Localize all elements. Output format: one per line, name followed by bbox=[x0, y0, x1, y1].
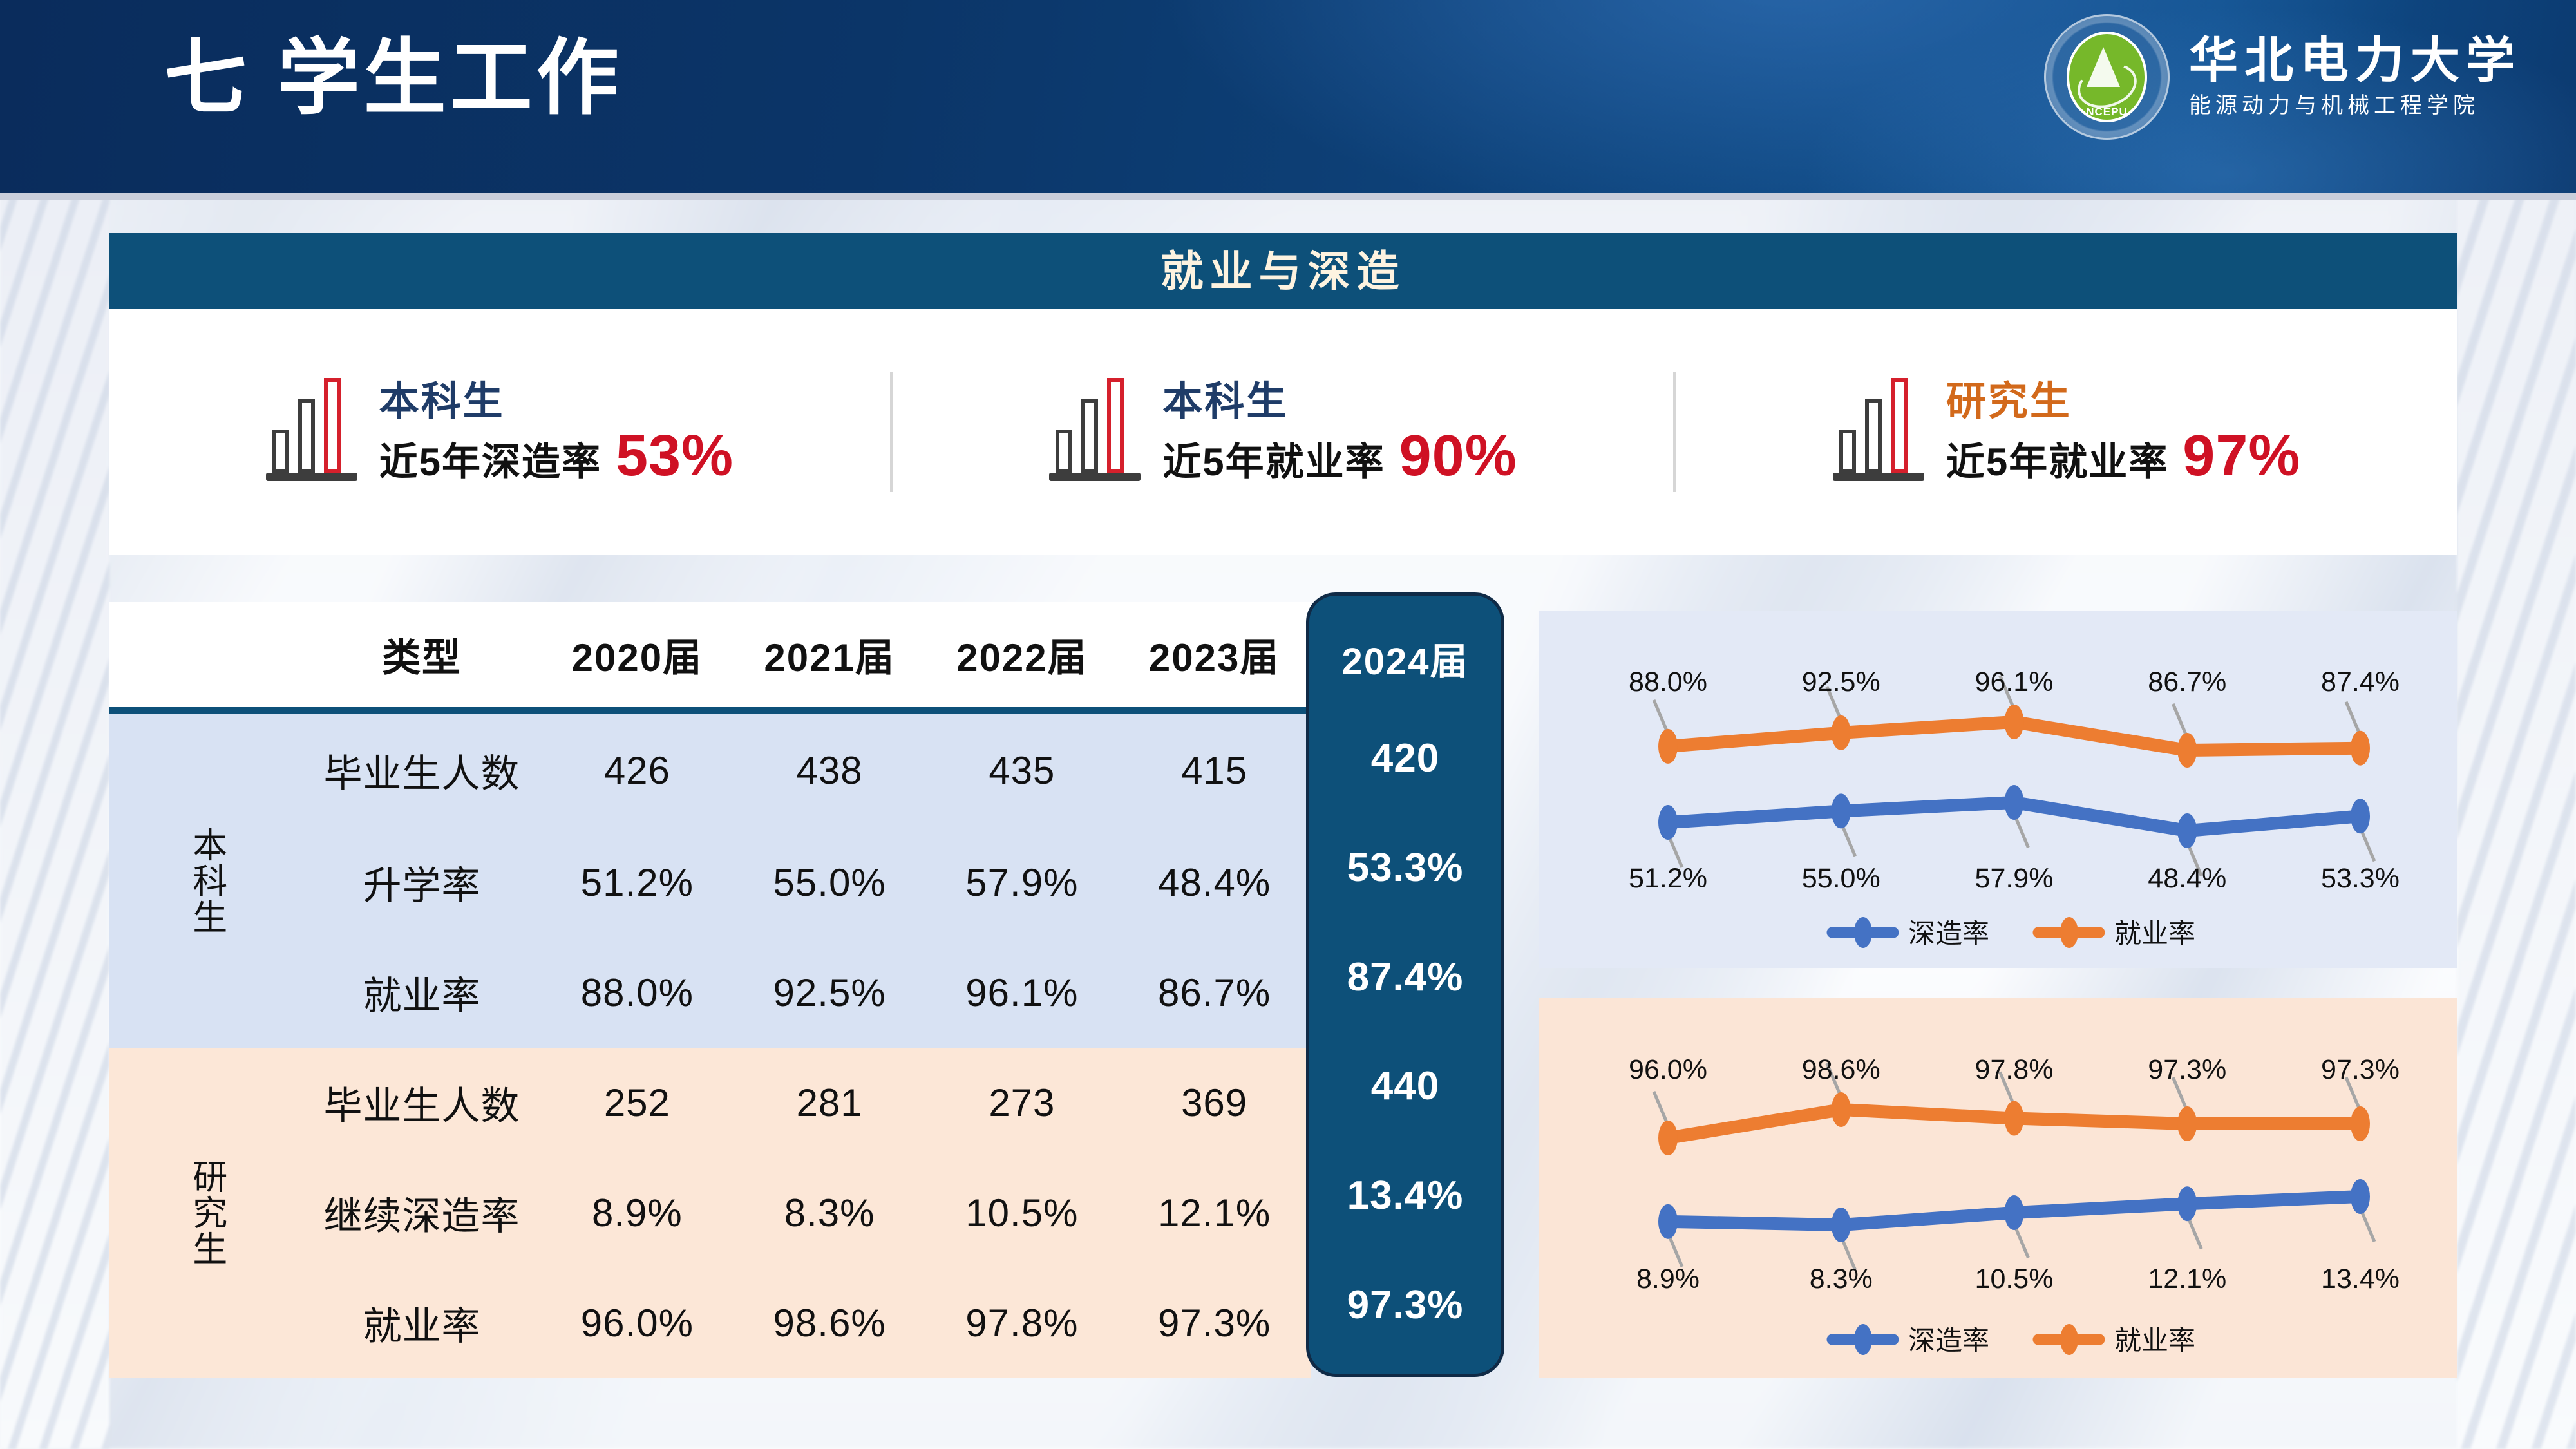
svg-text:48.4%: 48.4% bbox=[2148, 863, 2226, 894]
background-left-strip bbox=[0, 193, 109, 1449]
graduate-line-chart: 96.0%8.9%98.6%8.3%97.8%10.5%97.3%12.1%97… bbox=[1539, 998, 2457, 1378]
table-row: 研究生 毕业生人数 252 281 273 369 bbox=[109, 1048, 1311, 1158]
row-metric-label: 毕业生人数 bbox=[303, 710, 541, 828]
stat-metric-label: 近5年就业率 bbox=[1162, 441, 1385, 484]
highlight-column-2024: 2024届 420 53.3% 87.4% 440 13.4% 97.3% bbox=[1306, 592, 1504, 1377]
svg-text:86.7%: 86.7% bbox=[2148, 667, 2226, 697]
highlight-value: 87.4% bbox=[1309, 922, 1501, 1032]
cell-value: 51.2% bbox=[541, 828, 734, 938]
stat-text-block: 本科生 近5年深造率 53% bbox=[379, 379, 734, 484]
table-header-2021: 2021届 bbox=[734, 602, 926, 710]
highlight-value: 13.4% bbox=[1309, 1141, 1501, 1251]
header-underline bbox=[0, 193, 2576, 200]
section-banner-title: 就业与深造 bbox=[1161, 250, 1406, 292]
cell-value: 252 bbox=[541, 1048, 734, 1158]
bar-chart-icon bbox=[266, 383, 357, 481]
table-header-type: 类型 bbox=[303, 602, 541, 710]
svg-text:97.8%: 97.8% bbox=[1975, 1054, 2054, 1085]
stats-card: 本科生 近5年深造率 53% 本科生 近5年就业率 90% 研究生 近5年 bbox=[109, 309, 2457, 555]
svg-text:98.6%: 98.6% bbox=[1802, 1054, 1880, 1085]
cell-value: 55.0% bbox=[734, 828, 926, 938]
svg-text:8.3%: 8.3% bbox=[1810, 1264, 1873, 1294]
school-name: 能源动力与机械工程学院 bbox=[2189, 95, 2521, 117]
cell-value: 435 bbox=[926, 710, 1119, 828]
university-name: 华北电力大学 bbox=[2189, 37, 2521, 87]
svg-text:就业率: 就业率 bbox=[2114, 918, 2195, 949]
undergraduate-chart-panel: 88.0%51.2%92.5%55.0%96.1%57.9%86.7%48.4%… bbox=[1539, 611, 2457, 968]
employment-table: 类型 2020届 2021届 2022届 2023届 本科生 毕业生人数 426… bbox=[109, 602, 1311, 1378]
stat-metric-label: 近5年深造率 bbox=[379, 441, 601, 484]
undergraduate-line-chart: 88.0%51.2%92.5%55.0%96.1%57.9%86.7%48.4%… bbox=[1539, 611, 2457, 968]
svg-text:97.3%: 97.3% bbox=[2148, 1054, 2226, 1085]
stat-text-block: 研究生 近5年就业率 97% bbox=[1946, 379, 2301, 484]
ncepu-emblem-icon: NCEPU bbox=[2044, 14, 2170, 140]
row-metric-label: 就业率 bbox=[303, 938, 541, 1048]
graduate-chart-panel: 96.0%8.9%98.6%8.3%97.8%10.5%97.3%12.1%97… bbox=[1539, 998, 2457, 1378]
page-title: 七 学生工作 bbox=[164, 37, 623, 120]
row-metric-label: 就业率 bbox=[303, 1268, 541, 1378]
section-banner: 就业与深造 bbox=[109, 233, 2457, 309]
svg-text:8.9%: 8.9% bbox=[1636, 1264, 1700, 1294]
svg-text:深造率: 深造率 bbox=[1908, 1325, 1989, 1356]
cell-value: 88.0% bbox=[541, 938, 734, 1048]
cell-value: 8.9% bbox=[541, 1158, 734, 1268]
logo-text-block: 华北电力大学 能源动力与机械工程学院 bbox=[2189, 37, 2521, 118]
bar-chart-icon bbox=[1833, 383, 1924, 481]
emblem-abbr-text: NCEPU bbox=[2044, 106, 2170, 118]
cell-value: 12.1% bbox=[1118, 1158, 1311, 1268]
stat-degree-label: 本科生 bbox=[1162, 379, 1517, 424]
cell-value: 10.5% bbox=[926, 1158, 1119, 1268]
svg-text:92.5%: 92.5% bbox=[1802, 667, 1880, 697]
cell-value: 86.7% bbox=[1118, 938, 1311, 1048]
svg-text:深造率: 深造率 bbox=[1908, 918, 1989, 949]
cell-value: 48.4% bbox=[1118, 828, 1311, 938]
highlight-value: 53.3% bbox=[1309, 813, 1501, 923]
cell-value: 97.8% bbox=[926, 1268, 1119, 1378]
stat-degree-label: 研究生 bbox=[1946, 379, 2301, 424]
svg-text:96.1%: 96.1% bbox=[1975, 667, 2054, 697]
cell-value: 415 bbox=[1118, 710, 1311, 828]
group-stub-undergraduate: 本科生 bbox=[109, 710, 303, 1048]
stat-metric-label: 近5年就业率 bbox=[1946, 441, 2168, 484]
cell-value: 426 bbox=[541, 710, 734, 828]
highlight-value: 420 bbox=[1309, 704, 1501, 813]
stat-text-block: 本科生 近5年就业率 90% bbox=[1162, 379, 1517, 484]
stat-item-graduate-employment: 研究生 近5年就业率 97% bbox=[1676, 309, 2457, 555]
svg-text:13.4%: 13.4% bbox=[2321, 1264, 2400, 1294]
cell-value: 8.3% bbox=[734, 1158, 926, 1268]
university-logo: NCEPU 华北电力大学 能源动力与机械工程学院 bbox=[2044, 14, 2521, 140]
cell-value: 273 bbox=[926, 1048, 1119, 1158]
table-row: 本科生 毕业生人数 426 438 435 415 bbox=[109, 710, 1311, 828]
svg-text:55.0%: 55.0% bbox=[1802, 863, 1880, 894]
row-metric-label: 毕业生人数 bbox=[303, 1048, 541, 1158]
table-header-2020: 2020届 bbox=[541, 602, 734, 710]
stat-value: 97% bbox=[2183, 427, 2300, 485]
stat-item-undergrad-further-study: 本科生 近5年深造率 53% bbox=[109, 309, 890, 555]
cell-value: 438 bbox=[734, 710, 926, 828]
row-metric-label: 升学率 bbox=[303, 828, 541, 938]
table-header-row: 类型 2020届 2021届 2022届 2023届 bbox=[109, 602, 1311, 710]
background-right-strip bbox=[2457, 193, 2576, 1449]
cell-value: 98.6% bbox=[734, 1268, 926, 1378]
svg-text:53.3%: 53.3% bbox=[2321, 863, 2400, 894]
svg-text:12.1%: 12.1% bbox=[2148, 1264, 2226, 1294]
cell-value: 97.3% bbox=[1118, 1268, 1311, 1378]
svg-text:51.2%: 51.2% bbox=[1629, 863, 1707, 894]
svg-text:10.5%: 10.5% bbox=[1975, 1264, 2054, 1294]
highlight-value: 440 bbox=[1309, 1032, 1501, 1141]
cell-value: 96.1% bbox=[926, 938, 1119, 1048]
svg-text:57.9%: 57.9% bbox=[1975, 863, 2054, 894]
cell-value: 92.5% bbox=[734, 938, 926, 1048]
cell-value: 281 bbox=[734, 1048, 926, 1158]
svg-text:就业率: 就业率 bbox=[2114, 1325, 2195, 1356]
table-header-blank bbox=[109, 602, 303, 710]
stat-degree-label: 本科生 bbox=[379, 379, 734, 424]
cell-value: 96.0% bbox=[541, 1268, 734, 1378]
stat-value: 53% bbox=[616, 427, 734, 485]
svg-text:97.3%: 97.3% bbox=[2321, 1054, 2400, 1085]
svg-text:88.0%: 88.0% bbox=[1629, 667, 1707, 697]
stat-value: 90% bbox=[1399, 427, 1517, 485]
highlight-header-2024: 2024届 bbox=[1309, 612, 1501, 704]
table-header-2022: 2022届 bbox=[926, 602, 1119, 710]
row-metric-label: 继续深造率 bbox=[303, 1158, 541, 1268]
bar-chart-icon bbox=[1049, 383, 1141, 481]
svg-text:96.0%: 96.0% bbox=[1629, 1054, 1707, 1085]
highlight-value: 97.3% bbox=[1309, 1250, 1501, 1359]
svg-text:87.4%: 87.4% bbox=[2321, 667, 2400, 697]
table-header-2023: 2023届 bbox=[1118, 602, 1311, 710]
cell-value: 369 bbox=[1118, 1048, 1311, 1158]
employment-table-card: 类型 2020届 2021届 2022届 2023届 本科生 毕业生人数 426… bbox=[109, 602, 1311, 1378]
stat-item-undergrad-employment: 本科生 近5年就业率 90% bbox=[893, 309, 1674, 555]
cell-value: 57.9% bbox=[926, 828, 1119, 938]
group-stub-graduate: 研究生 bbox=[109, 1048, 303, 1378]
